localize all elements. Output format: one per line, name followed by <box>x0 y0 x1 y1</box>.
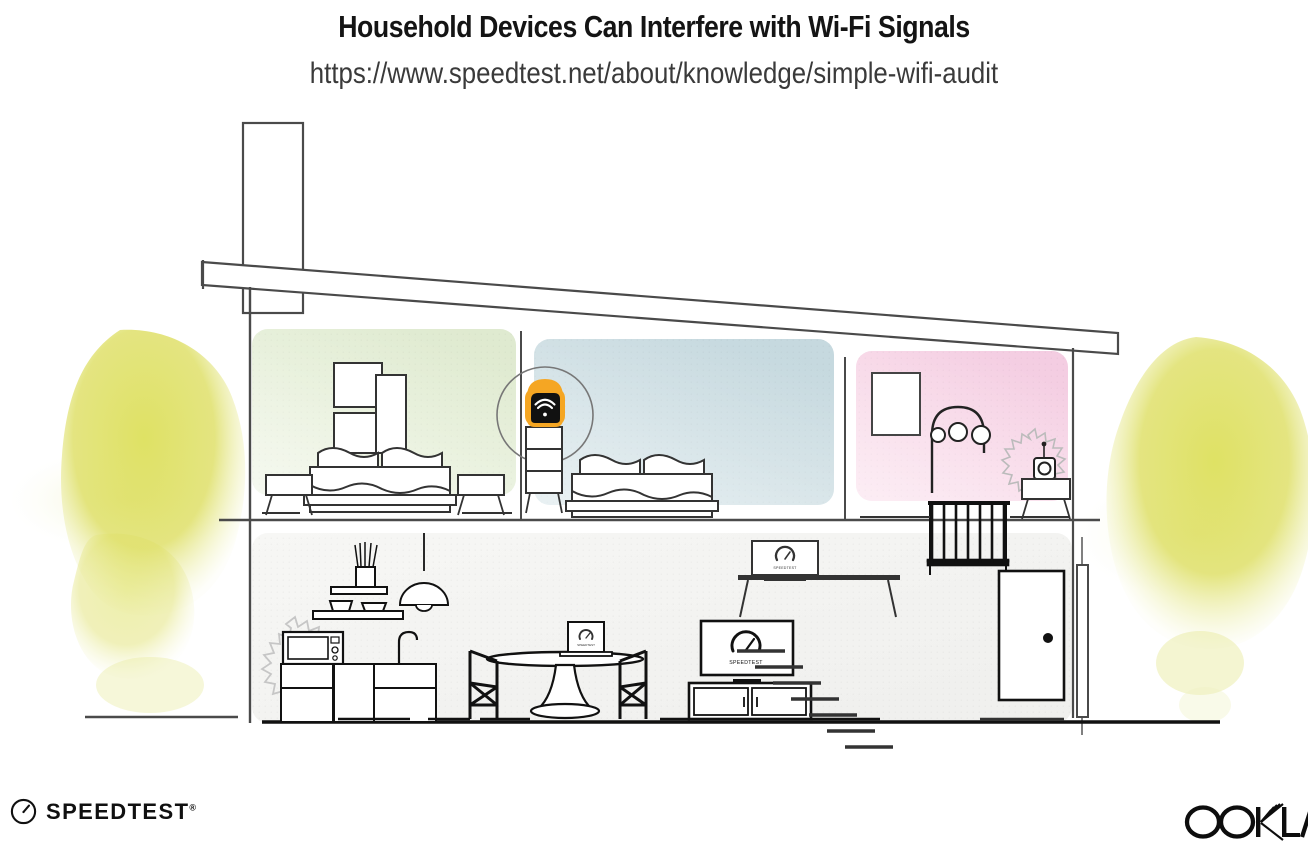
door-knob <box>1043 633 1053 643</box>
page-title: Household Devices Can Interfere with Wi-… <box>92 11 1217 42</box>
wall-frame <box>334 363 382 407</box>
kitchen-counters <box>281 664 436 722</box>
dining-laptop: SPEEDTEST <box>560 622 612 656</box>
laptop-screen-label: SPEEDTEST <box>577 643 595 647</box>
infographic-page: Household Devices Can Interfere with Wi-… <box>0 0 1308 861</box>
roof <box>202 123 1118 354</box>
speedtest-wordmark-text: SPEEDTEST <box>46 799 189 824</box>
speedtest-gauge-icon <box>10 798 37 825</box>
ookla-wordmark <box>1182 802 1308 842</box>
house-illustration: SPEEDTEST <box>0 105 1308 755</box>
speedtest-wordmark: SPEEDTEST® <box>46 799 196 825</box>
source-url: https://www.speedtest.net/about/knowledg… <box>92 59 1217 89</box>
desk-laptop: SPEEDTEST <box>752 541 818 581</box>
foliage-left <box>10 330 246 713</box>
nursery-side-table <box>1022 479 1070 519</box>
speedtest-trademark: ® <box>189 802 196 812</box>
laptop-screen-label: SPEEDTEST <box>773 566 797 570</box>
wifi-router <box>525 379 565 427</box>
header: Household Devices Can Interfere with Wi-… <box>0 0 1308 89</box>
speedtest-logo: SPEEDTEST® <box>10 798 196 825</box>
nightstand-right <box>458 475 504 515</box>
entry-door <box>999 571 1064 700</box>
ookla-logo <box>1182 802 1308 847</box>
house-cutaway-svg: SPEEDTEST <box>0 105 1308 755</box>
microwave <box>283 632 343 664</box>
foliage-right <box>1078 337 1308 723</box>
tv-screen-label: SPEEDTEST <box>729 660 763 666</box>
wall-frame <box>376 375 406 453</box>
wall-frame <box>872 373 920 435</box>
footer: SPEEDTEST® <box>0 780 1308 861</box>
nightstand-left <box>266 475 312 515</box>
media-console <box>689 683 811 719</box>
wall-frame <box>334 413 382 453</box>
